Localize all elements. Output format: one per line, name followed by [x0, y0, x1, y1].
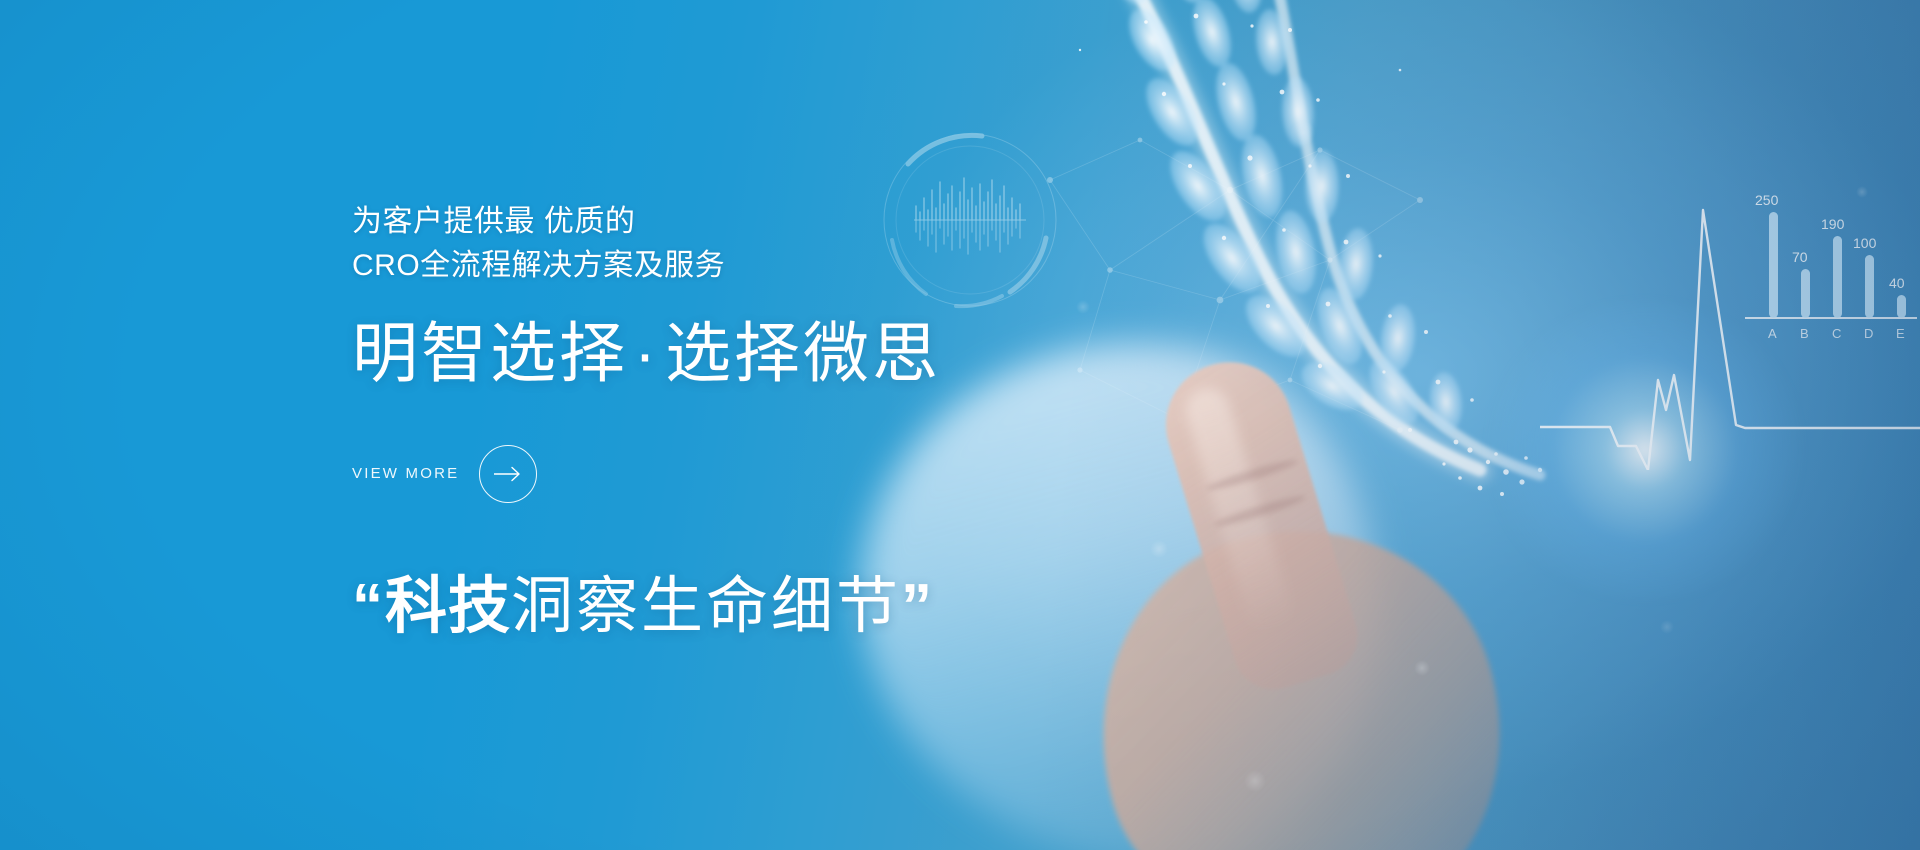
quote-strong-text: 科技	[385, 572, 511, 641]
hero-banner: 250 70 190 100 40 A B C D E 为客户提供最 优质的 C…	[0, 0, 1920, 850]
hero-content: 为客户提供最 优质的 CRO全流程解决方案及服务 明智选择·选择微思 VIEW …	[352, 200, 1172, 641]
headline-separator: ·	[628, 316, 665, 390]
headline-part-1: 明智选择	[352, 316, 628, 390]
arrow-right-icon[interactable]	[479, 445, 537, 503]
quote-light-text: 洞察生命细节	[511, 572, 901, 641]
quote-open-mark: “	[352, 572, 385, 641]
subheading: 为客户提供最 优质的 CRO全流程解决方案及服务	[352, 200, 1172, 287]
view-more-label: VIEW MORE	[352, 465, 459, 482]
view-more-button[interactable]: VIEW MORE	[352, 445, 537, 503]
quote-close-mark: ”	[901, 572, 934, 641]
tagline-quote: “科技洞察生命细节”	[352, 573, 1172, 641]
page-title: 明智选择·选择微思	[352, 317, 1172, 391]
subheading-line-1: 为客户提供最 优质的	[352, 205, 635, 238]
subheading-line-2: CRO全流程解决方案及服务	[352, 244, 1172, 288]
headline-part-2: 选择微思	[665, 316, 941, 390]
